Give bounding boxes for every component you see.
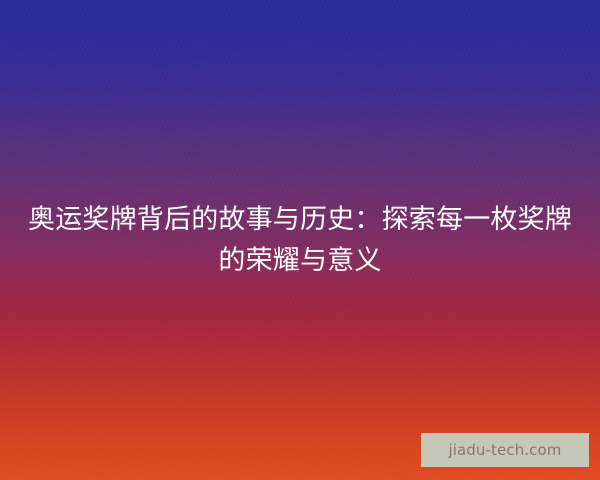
watermark-badge: jiadu-tech.com — [421, 433, 589, 467]
watermark-label: jiadu-tech.com — [448, 441, 561, 459]
page-title: 奥运奖牌背后的故事与历史：探索每一枚奖牌的荣耀与意义 — [28, 199, 572, 281]
article-cover-image: 奥运奖牌背后的故事与历史：探索每一枚奖牌的荣耀与意义 jiadu-tech.co… — [0, 0, 600, 480]
title-block: 奥运奖牌背后的故事与历史：探索每一枚奖牌的荣耀与意义 — [0, 0, 600, 480]
